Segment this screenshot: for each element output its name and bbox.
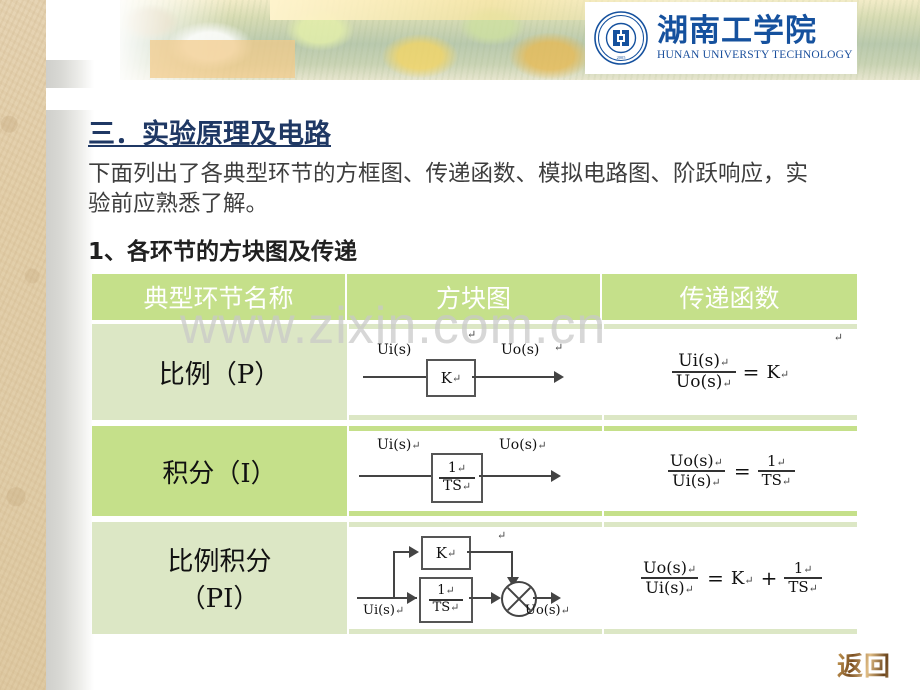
tf-fraction: Ui(s)↵ Uo(s)↵: [672, 352, 736, 392]
diagram-output-label: Uo(s)↵: [499, 437, 547, 453]
tf-fraction-right: 1↵ TS↵: [758, 453, 796, 489]
diagram-input-label: Ui(s)↵: [377, 437, 421, 453]
row-name-pi-line2: （PI）: [92, 578, 347, 615]
tf-equals: =: [707, 566, 724, 590]
table-row: 比例积分 （PI） ↵ Ui(s)↵: [92, 522, 857, 634]
row-transfer-proportional: Ui(s)↵ Uo(s)↵ = K↵ ↵: [602, 324, 857, 420]
tf-top-pilcrow: ↵: [834, 331, 843, 344]
row-name-pi-line1: 比例积分: [92, 541, 347, 578]
tf-numerator: Uo(s)↵: [639, 559, 700, 577]
page-title: 三．实验原理及电路: [88, 112, 331, 151]
tf-denominator: Ui(s)↵: [641, 577, 698, 597]
diagram-block-gain: K↵: [421, 536, 471, 570]
tf-fraction-left: Uo(s)↵ Ui(s)↵: [639, 559, 700, 597]
transfer-function-p: Ui(s)↵ Uo(s)↵ = K↵: [604, 329, 857, 415]
column-header-diagram: 方块图: [347, 274, 602, 320]
slide-canvas: 2005 湖南工学院 HUNAN UNIVERSTY TECHNOLOGY 三．…: [0, 0, 920, 690]
banner-bottom-white: [46, 88, 920, 110]
diagram-block-integrator: 1↵ TS↵: [419, 577, 473, 623]
tf-fraction-left: Uo(s)↵ Ui(s)↵: [666, 452, 727, 490]
tf-fraction-right: 1↵ TS↵: [784, 560, 822, 596]
diagram-arrow-out: [554, 371, 564, 383]
page-title-text: 三．实验原理及电路: [88, 119, 331, 150]
typical-elements-table: 典型环节名称 方块图 传递函数 比例（P） Ui(s) Uo(s) ↵ ↵: [92, 274, 857, 634]
intro-paragraph: 下面列出了各典型环节的方框图、传递函数、模拟电路图、阶跃响应，实验前应熟悉了解。: [88, 160, 808, 220]
transfer-function-pi: Uo(s)↵ Ui(s)↵ = K↵ + 1↵ TS↵: [604, 527, 857, 629]
tf-rhs-denominator: TS↵: [784, 577, 822, 596]
tf-rhs-gain: K↵: [731, 568, 754, 589]
block-diagram-p: Ui(s) Uo(s) ↵ ↵ K↵: [349, 329, 602, 415]
diagram-top-pilcrow: ↵: [467, 328, 476, 341]
tf-numerator: Ui(s)↵: [674, 352, 733, 371]
transfer-function-i: Uo(s)↵ Ui(s)↵ = 1↵ TS↵: [604, 431, 857, 511]
university-logo-text: 湖南工学院 HUNAN UNIVERSTY TECHNOLOGY: [657, 15, 853, 62]
section-subheading: 1、各环节的方块图及传递: [88, 232, 357, 266]
diagram-arrow-out: [551, 470, 561, 482]
row-name-pi: 比例积分 （PI）: [92, 522, 347, 634]
diagram-block-fraction: 1↵ TS↵: [429, 584, 464, 615]
row-name-proportional: 比例（P）: [92, 324, 347, 420]
diagram-block-gain: K↵: [426, 359, 476, 397]
diagram-input-label: Ui(s)↵: [363, 603, 404, 618]
tf-equals: =: [734, 459, 751, 483]
diagram-output-pilcrow: ↵: [554, 341, 563, 354]
column-header-name: 典型环节名称: [92, 274, 347, 320]
svg-text:2005: 2005: [617, 55, 627, 60]
row-diagram-proportional: Ui(s) Uo(s) ↵ ↵ K↵: [347, 324, 602, 420]
table-row: 比例（P） Ui(s) Uo(s) ↵ ↵ K↵: [92, 324, 857, 420]
tf-rhs: K↵: [766, 362, 789, 383]
diagram-block-gain-label: K: [441, 369, 452, 387]
tf-equals: =: [743, 360, 760, 384]
row-transfer-pi: Uo(s)↵ Ui(s)↵ = K↵ + 1↵ TS↵: [602, 522, 857, 634]
diagram-output-label: Uo(s)↵: [525, 603, 570, 618]
diagram-input-label: Ui(s): [377, 342, 411, 358]
tf-denominator: Uo(s)↵: [672, 371, 736, 392]
block-diagram-pi: ↵ Ui(s)↵ K↵: [349, 527, 602, 629]
diagram-block-fraction: 1↵ TS↵: [439, 461, 475, 494]
tf-denominator: Ui(s)↵: [668, 470, 725, 490]
university-name-en: HUNAN UNIVERSTY TECHNOLOGY: [657, 49, 853, 61]
banner-tan-block: [150, 40, 295, 78]
left-gradient-strip: [46, 60, 94, 690]
diagram-output-label: Uo(s): [501, 342, 539, 358]
row-diagram-pi: ↵ Ui(s)↵ K↵: [347, 522, 602, 634]
tf-numerator: Uo(s)↵: [666, 452, 727, 470]
row-transfer-integral: Uo(s)↵ Ui(s)↵ = 1↵ TS↵: [602, 426, 857, 516]
tf-plus: +: [761, 566, 778, 590]
university-name-cn: 湖南工学院: [657, 15, 853, 48]
row-diagram-integral: Ui(s)↵ Uo(s)↵ 1↵ TS↵: [347, 426, 602, 516]
return-button[interactable]: 返回: [822, 646, 906, 682]
column-header-transfer: 传递函数: [602, 274, 857, 320]
tf-rhs-numerator: 1↵: [790, 560, 817, 577]
university-seal-icon: 2005: [593, 10, 649, 66]
table-header-row: 典型环节名称 方块图 传递函数: [92, 274, 857, 320]
tf-rhs-numerator: 1↵: [763, 453, 790, 470]
tf-rhs-denominator: TS↵: [758, 470, 796, 489]
table-row: 积分（I） Ui(s)↵ Uo(s)↵ 1↵ TS↵: [92, 426, 857, 516]
row-name-integral: 积分（I）: [92, 426, 347, 516]
diagram-block-integrator: 1↵ TS↵: [431, 453, 483, 503]
diagram-top-pilcrow: ↵: [497, 529, 506, 542]
block-diagram-i: Ui(s)↵ Uo(s)↵ 1↵ TS↵: [349, 431, 602, 511]
university-logo: 2005 湖南工学院 HUNAN UNIVERSTY TECHNOLOGY: [585, 2, 857, 74]
diagram-block-gain-label: K: [436, 544, 447, 562]
left-texture-strip: [0, 0, 46, 690]
